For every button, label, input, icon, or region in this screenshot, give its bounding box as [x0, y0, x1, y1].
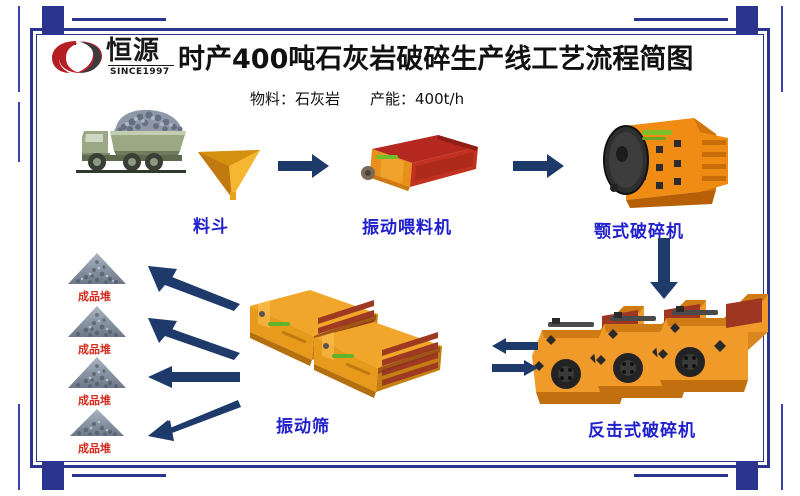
- corner-ornament-line-tl: [72, 18, 166, 21]
- stage-label-vibrating-feeder: 振动喂料机: [362, 213, 452, 238]
- vibrating-screen-icon: [248, 288, 498, 418]
- arrow-screen-to-pile-4: [146, 398, 242, 442]
- product-pile-label-3: 成品堆: [78, 392, 111, 408]
- arrow-jaw-to-impact: [648, 238, 680, 300]
- stage-label-impact-crusher: 反击式破碎机: [588, 416, 696, 441]
- product-pile-2: [66, 305, 128, 339]
- arrow-impact-to-screen: [492, 338, 538, 354]
- funnel-hopper-icon: [196, 142, 262, 202]
- corner-ornament-line-tr: [634, 18, 728, 21]
- arrow-screen-to-pile-1: [146, 262, 242, 308]
- vibrating-feeder-icon: [352, 133, 480, 195]
- swirl-logo-icon: [50, 40, 104, 74]
- impact-crusher-icon: [528, 300, 768, 420]
- arrow-screen-to-impact: [492, 360, 538, 376]
- corner-ornament-square-tr: [736, 6, 758, 34]
- corner-ornament-line-br: [634, 474, 728, 477]
- arrow-feeder-to-jaw: [513, 152, 565, 180]
- company-logo: 恒源 SINCE1997: [50, 36, 178, 82]
- corner-ornament-line-bl: [72, 474, 166, 477]
- flowchart-canvas: 恒源 SINCE1997 时产400吨石灰岩破碎生产线工艺流程简图 物料：石灰岩…: [0, 0, 800, 496]
- corner-ornament-square-bl: [42, 462, 64, 490]
- dump-truck-icon: [70, 105, 190, 175]
- corner-ornament-vline-tr: [781, 6, 783, 92]
- product-pile-4: [68, 408, 126, 438]
- logo-divider: [108, 65, 174, 66]
- product-pile-label-4: 成品堆: [78, 440, 111, 456]
- corner-ornament-square-tl: [42, 6, 64, 34]
- product-pile-label-2: 成品堆: [78, 341, 111, 357]
- logo-company-name: 恒源: [106, 36, 160, 66]
- product-pile-1: [66, 252, 128, 286]
- corner-ornament-vline-tl2: [18, 102, 20, 162]
- logo-since-text: SINCE1997: [110, 67, 170, 77]
- corner-ornament-vline-tl: [18, 6, 20, 92]
- stage-label-hopper: 料斗: [193, 212, 229, 237]
- product-pile-3: [66, 356, 128, 390]
- corner-ornament-square-br: [736, 462, 758, 490]
- arrow-truck-to-feeder: [278, 152, 330, 180]
- corner-ornament-vline-br: [781, 404, 783, 490]
- product-pile-label-1: 成品堆: [78, 288, 111, 304]
- jaw-crusher-icon: [596, 108, 732, 210]
- page-title: 时产400吨石灰岩破碎生产线工艺流程简图: [178, 40, 698, 80]
- arrow-screen-to-pile-2: [146, 315, 242, 357]
- subtitle-material-capacity: 物料：石灰岩 产能：400t/h: [250, 88, 550, 110]
- corner-ornament-vline-bl: [18, 404, 20, 490]
- arrow-screen-to-pile-3: [146, 365, 240, 389]
- stage-label-vibrating-screen: 振动筛: [276, 412, 330, 437]
